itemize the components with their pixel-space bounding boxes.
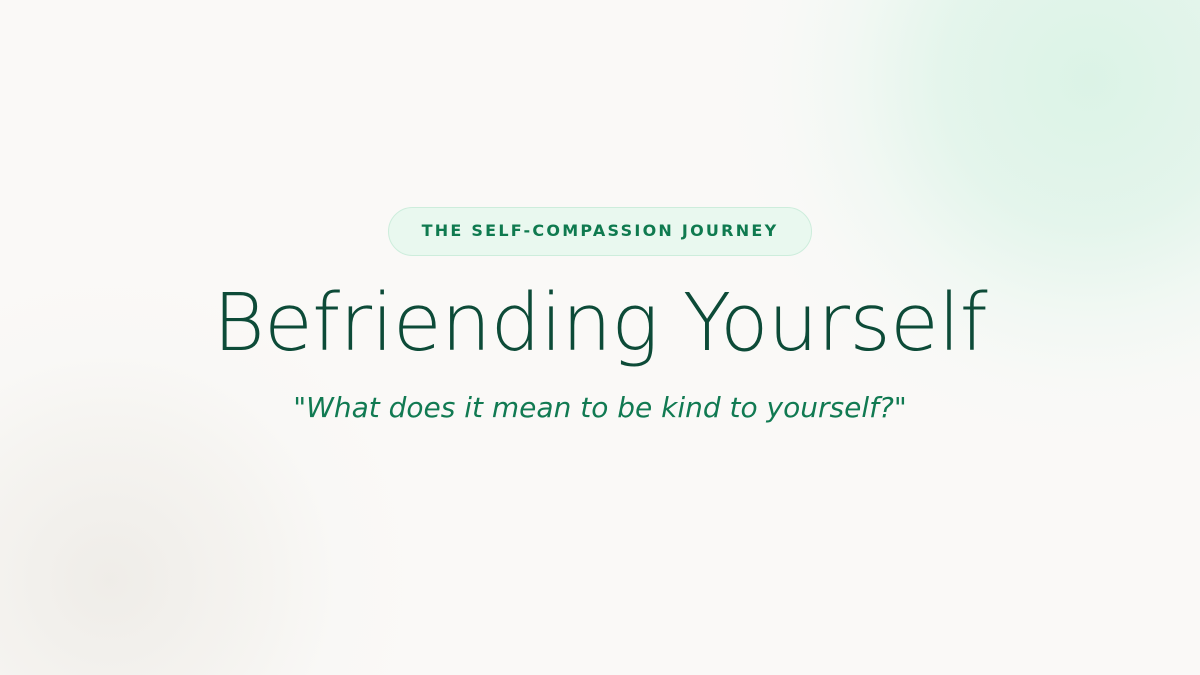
eyebrow-badge: THE SELF-COMPASSION JOURNEY — [388, 207, 813, 256]
slide-title: Befriending Yourself — [213, 282, 987, 366]
hero-content: THE SELF-COMPASSION JOURNEY Befriending … — [0, 0, 1200, 675]
presentation-slide: THE SELF-COMPASSION JOURNEY Befriending … — [0, 0, 1200, 675]
eyebrow-badge-label: THE SELF-COMPASSION JOURNEY — [422, 223, 779, 239]
slide-subtitle: "What does it mean to be kind to yoursel… — [293, 390, 906, 426]
